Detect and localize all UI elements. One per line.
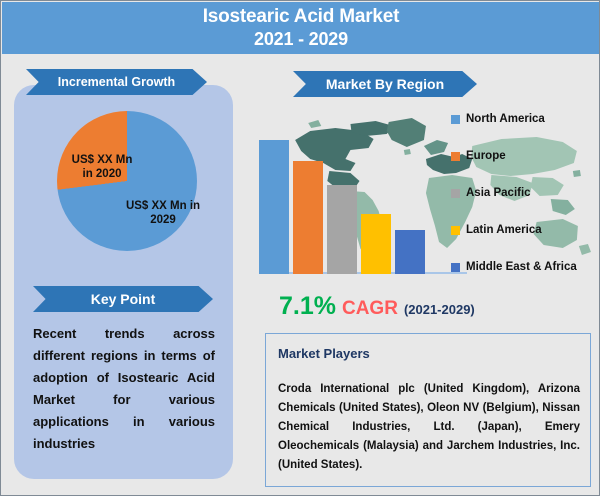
section-banner-incremental-growth: Incremental Growth	[26, 69, 207, 95]
cagr-period: (2021-2029)	[404, 302, 475, 317]
legend-item-north-america: North America	[451, 113, 545, 126]
cagr-value: 7.1%	[279, 293, 336, 319]
market-by-region-label: Market By Region	[326, 76, 444, 92]
bar-latin-america	[361, 214, 391, 274]
bar-middle-east-africa	[395, 230, 425, 274]
legend-swatch-icon	[451, 263, 460, 272]
bar-north-america	[259, 140, 289, 274]
legend-label: Latin America	[466, 224, 542, 237]
market-by-region-chart: North AmericaEuropeAsia PacificLatin Ame…	[251, 111, 597, 279]
bar-europe	[293, 161, 323, 274]
cagr-word: CAGR	[342, 299, 398, 319]
legend-swatch-icon	[451, 152, 460, 161]
pie-disc	[57, 111, 197, 251]
legend-item-europe: Europe	[451, 150, 506, 163]
incremental-growth-label: Incremental Growth	[58, 75, 175, 89]
page-subtitle-period: 2021 - 2029	[254, 28, 348, 51]
legend-swatch-icon	[451, 189, 460, 198]
market-players-box: Market Players Croda International plc (…	[265, 333, 591, 487]
section-banner-market-by-region: Market By Region	[293, 71, 477, 97]
legend-item-latin-america: Latin America	[451, 224, 542, 237]
header-banner: Isostearic Acid Market 2021 - 2029	[2, 2, 600, 54]
key-point-text: Recent trends across different regions i…	[33, 323, 215, 455]
legend-swatch-icon	[451, 226, 460, 235]
region-legend: North AmericaEuropeAsia PacificLatin Ame…	[451, 113, 600, 273]
legend-label: Europe	[466, 150, 506, 163]
incremental-growth-pie-chart: US$ XX Mn in 2020 US$ XX Mn in 2029	[57, 111, 197, 251]
section-banner-key-point: Key Point	[33, 286, 213, 312]
cagr-summary: 7.1% CAGR (2021-2029)	[279, 293, 475, 319]
legend-label: North America	[466, 113, 545, 126]
legend-label: Asia Pacific	[466, 187, 531, 200]
region-bar-group	[259, 126, 439, 274]
bar-asia-pacific	[327, 185, 357, 274]
market-players-text: Croda International plc (United Kingdom)…	[278, 380, 580, 475]
market-players-title: Market Players	[278, 346, 370, 361]
legend-swatch-icon	[451, 115, 460, 124]
legend-item-asia-pacific: Asia Pacific	[451, 187, 531, 200]
legend-label: Middle East & Africa	[466, 261, 577, 274]
page-title: Isostearic Acid Market	[203, 5, 400, 28]
legend-item-middle-east-africa: Middle East & Africa	[451, 261, 577, 274]
infographic-canvas: Isostearic Acid Market 2021 - 2029 Incre…	[0, 0, 600, 496]
key-point-label: Key Point	[91, 291, 156, 307]
